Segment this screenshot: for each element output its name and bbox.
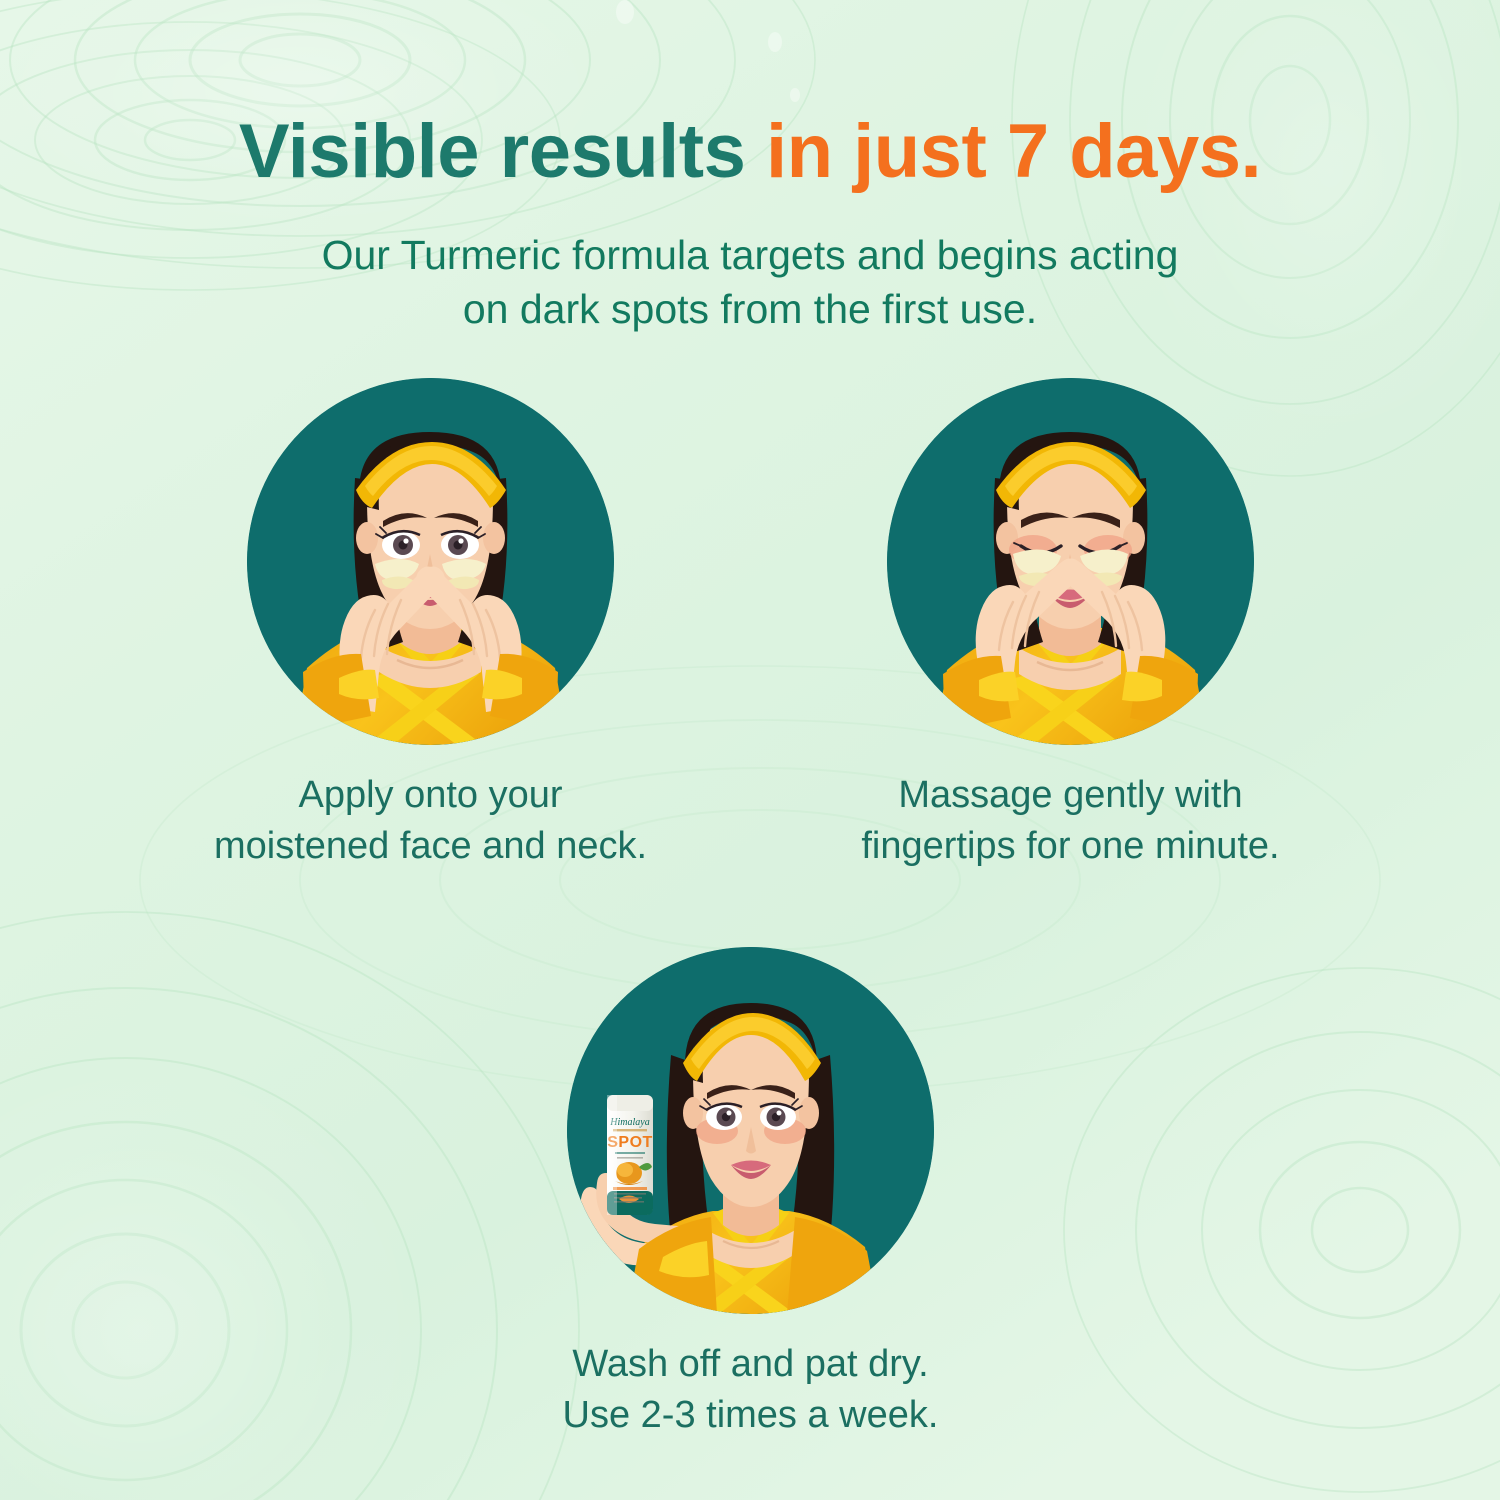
step-1-caption-line-1: Apply onto your <box>151 770 711 821</box>
step-2-caption: Massage gently with fingertips for one m… <box>791 770 1351 871</box>
subtitle-line-2: on dark spots from the first use. <box>0 282 1500 336</box>
woman-massaging-face-icon <box>887 378 1254 745</box>
headline-teal-text: Visible results <box>239 109 766 194</box>
step-3-caption: Wash off and pat dry. Use 2-3 times a we… <box>471 1339 1031 1440</box>
step-3: Himalaya SPOT <box>567 947 934 1314</box>
step-2: Massage gently with fingertips for one m… <box>887 378 1254 745</box>
step-3-caption-line-1: Wash off and pat dry. <box>471 1339 1031 1390</box>
subtitle-line-1: Our Turmeric formula targets and begins … <box>0 228 1500 282</box>
step-3-caption-line-2: Use 2-3 times a week. <box>471 1390 1031 1441</box>
step-1: Apply onto your moistened face and neck. <box>247 378 614 745</box>
woman-holding-product-tube-icon: Himalaya SPOT <box>567 947 934 1314</box>
step-2-caption-line-2: fingertips for one minute. <box>791 821 1351 872</box>
step-2-caption-line-1: Massage gently with <box>791 770 1351 821</box>
headline-orange-text: in just 7 days. <box>766 109 1261 194</box>
page-subtitle: Our Turmeric formula targets and begins … <box>0 228 1500 336</box>
page-title: Visible results in just 7 days. <box>0 112 1500 192</box>
woman-applying-cream-icon <box>247 378 614 745</box>
step-1-caption: Apply onto your moistened face and neck. <box>151 770 711 871</box>
step-2-illustration-circle <box>887 378 1254 745</box>
product-tube: Himalaya SPOT <box>607 1095 653 1215</box>
step-3-illustration-circle: Himalaya SPOT <box>567 947 934 1314</box>
step-1-caption-line-2: moistened face and neck. <box>151 821 711 872</box>
step-1-illustration-circle <box>247 378 614 745</box>
